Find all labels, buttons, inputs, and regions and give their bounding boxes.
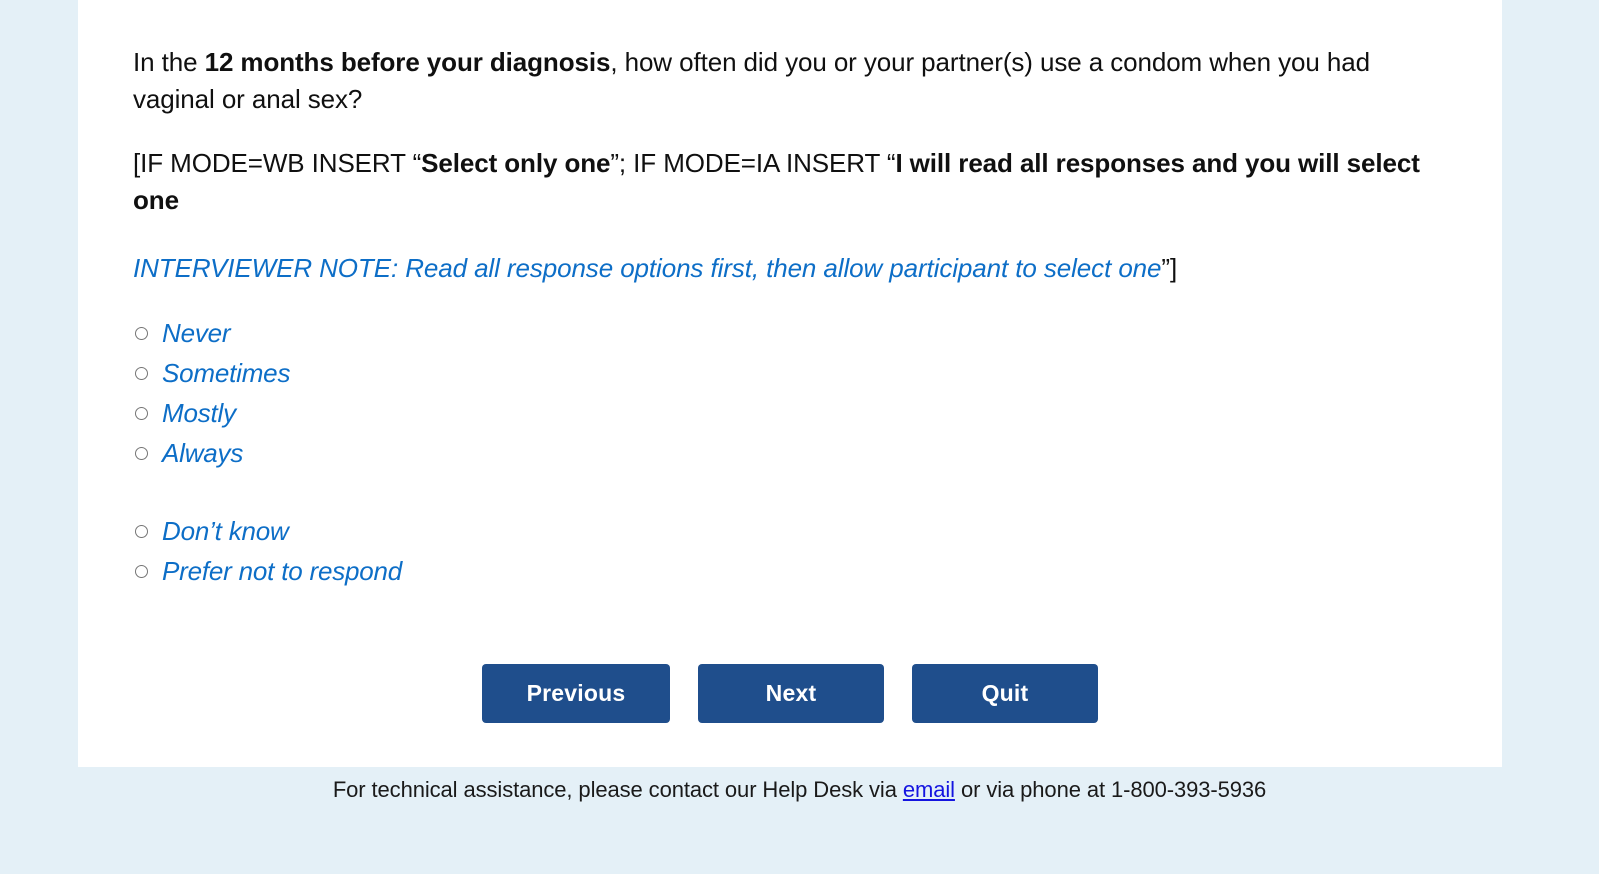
- option-group-divider: [133, 473, 1447, 511]
- option-dont-know[interactable]: Don’t know: [133, 511, 1447, 551]
- option-always[interactable]: Always: [133, 433, 1447, 473]
- survey-card: In the 12 months before your diagnosis, …: [78, 0, 1502, 767]
- radio-icon[interactable]: [135, 407, 148, 420]
- option-prefer-not-to-respond[interactable]: Prefer not to respond: [133, 551, 1447, 591]
- interviewer-note-text: INTERVIEWER NOTE: Read all response opti…: [133, 253, 1161, 283]
- quit-button[interactable]: Quit: [912, 664, 1098, 723]
- next-button[interactable]: Next: [698, 664, 884, 723]
- previous-button[interactable]: Previous: [482, 664, 670, 723]
- interviewer-note-closing: ”]: [1161, 253, 1177, 283]
- mode-part-2: ”; IF MODE=IA INSERT “: [610, 148, 895, 178]
- option-label: Sometimes: [162, 360, 290, 386]
- interviewer-note: INTERVIEWER NOTE: Read all response opti…: [133, 250, 1447, 287]
- option-label: Prefer not to respond: [162, 558, 402, 584]
- option-label: Don’t know: [162, 518, 289, 544]
- response-options: Never Sometimes Mostly Always Don’t know: [133, 313, 1447, 591]
- radio-icon[interactable]: [135, 367, 148, 380]
- radio-icon[interactable]: [135, 565, 148, 578]
- mode-part-1: [IF MODE=WB INSERT “: [133, 148, 421, 178]
- help-desk-middle: or via phone at: [955, 777, 1111, 802]
- footer-bar: For technical assistance, please contact…: [0, 767, 1599, 874]
- radio-icon[interactable]: [135, 525, 148, 538]
- help-desk-phone: 1-800-393-5936: [1111, 777, 1266, 802]
- help-desk-prefix: For technical assistance, please contact…: [333, 777, 903, 802]
- mode-instruction: [IF MODE=WB INSERT “Select only one”; IF…: [133, 145, 1447, 220]
- survey-page: In the 12 months before your diagnosis, …: [0, 0, 1599, 874]
- mode-bold-wb: Select only one: [421, 148, 610, 178]
- radio-icon[interactable]: [135, 327, 148, 340]
- email-link[interactable]: email: [903, 777, 955, 802]
- option-label: Mostly: [162, 400, 236, 426]
- option-sometimes[interactable]: Sometimes: [133, 353, 1447, 393]
- option-label: Never: [162, 320, 230, 346]
- spacer-after-question: [133, 119, 1447, 145]
- question-bold-phrase: 12 months before your diagnosis: [205, 47, 611, 77]
- navigation-buttons: Previous Next Quit: [133, 664, 1447, 723]
- option-label: Always: [162, 440, 243, 466]
- question-prefix: In the: [133, 47, 205, 77]
- radio-icon[interactable]: [135, 447, 148, 460]
- option-mostly[interactable]: Mostly: [133, 393, 1447, 433]
- help-desk-text: For technical assistance, please contact…: [333, 777, 1266, 803]
- option-never[interactable]: Never: [133, 313, 1447, 353]
- question-stem: In the 12 months before your diagnosis, …: [133, 44, 1447, 119]
- spacer-after-mode: [133, 220, 1447, 250]
